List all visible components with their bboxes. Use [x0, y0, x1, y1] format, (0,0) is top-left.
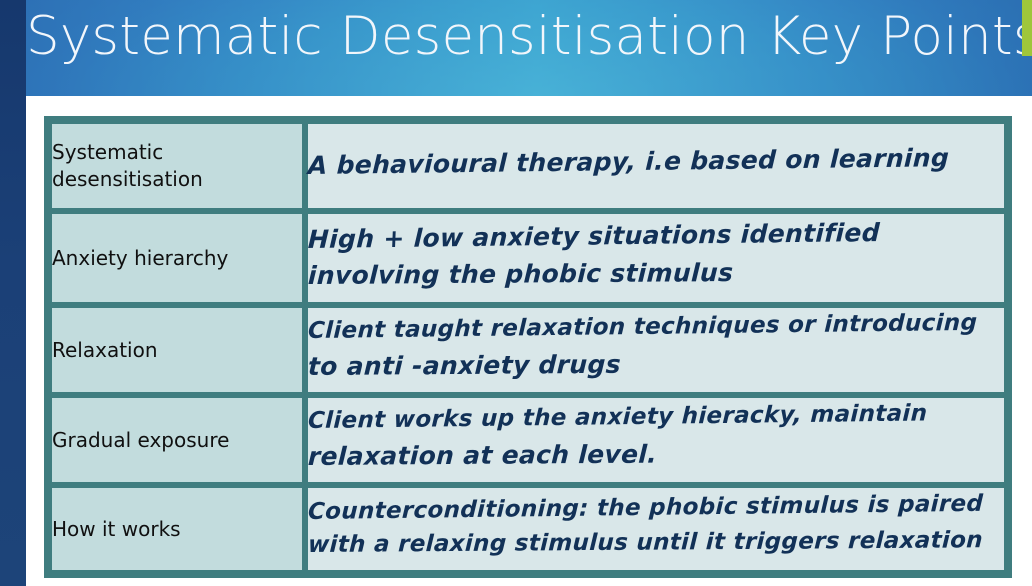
handwritten-line: relaxation at each level. [307, 434, 1005, 475]
term-cell-gradual-exposure: Gradual exposure [49, 395, 305, 485]
title-band: Systematic Desensitisation Key Points [0, 0, 1032, 96]
note-cell-gradual-exposure: Client works up the anxiety hieracky, ma… [305, 395, 1007, 485]
table-row: Systematic desensitisation A behavioural… [49, 121, 1007, 211]
table-row: Relaxation Client taught relaxation tech… [49, 305, 1007, 395]
table-row: Anxiety hierarchy High + low anxiety sit… [49, 211, 1007, 305]
handwritten-line: Client works up the anxiety hieracky, ma… [307, 397, 1005, 439]
handwritten-line: A behavioural therapy, i.e based on lear… [307, 139, 1005, 184]
page-title: Systematic Desensitisation Key Points [26, 2, 1006, 72]
handwritten-line: Counterconditioning: the phobic stimulus… [307, 487, 1005, 529]
slide-canvas: Systematic Desensitisation Key Points Sy… [0, 0, 1032, 586]
handwritten-line: Client taught relaxation techniques or i… [307, 307, 1005, 349]
note-cell-relaxation: Client taught relaxation techniques or i… [305, 305, 1007, 395]
key-points-table: Systematic desensitisation A behavioural… [44, 116, 1012, 578]
note-cell-how-it-works: Counterconditioning: the phobic stimulus… [305, 485, 1007, 573]
left-margin-strip [0, 0, 26, 586]
green-accent-bar [1022, 0, 1032, 56]
table-body: Systematic desensitisation A behavioural… [49, 121, 1007, 573]
note-cell-anxiety-hierarchy: High + low anxiety situations identified… [305, 211, 1007, 305]
note-cell-systematic-desensitisation: A behavioural therapy, i.e based on lear… [305, 121, 1007, 211]
term-cell-systematic-desensitisation: Systematic desensitisation [49, 121, 305, 211]
term-cell-anxiety-hierarchy: Anxiety hierarchy [49, 211, 305, 305]
term-cell-relaxation: Relaxation [49, 305, 305, 395]
handwritten-line: involving the phobic stimulus [307, 253, 1005, 294]
term-cell-how-it-works: How it works [49, 485, 305, 573]
handwritten-line: to anti -anxiety drugs [307, 344, 1005, 385]
handwritten-line: with a relaxing stimulus until it trigge… [307, 524, 1005, 562]
slide-content: Systematic desensitisation A behavioural… [26, 96, 1032, 586]
handwritten-line: High + low anxiety situations identified [307, 213, 1005, 258]
table-row: How it works Counterconditioning: the ph… [49, 485, 1007, 573]
table-row: Gradual exposure Client works up the anx… [49, 395, 1007, 485]
